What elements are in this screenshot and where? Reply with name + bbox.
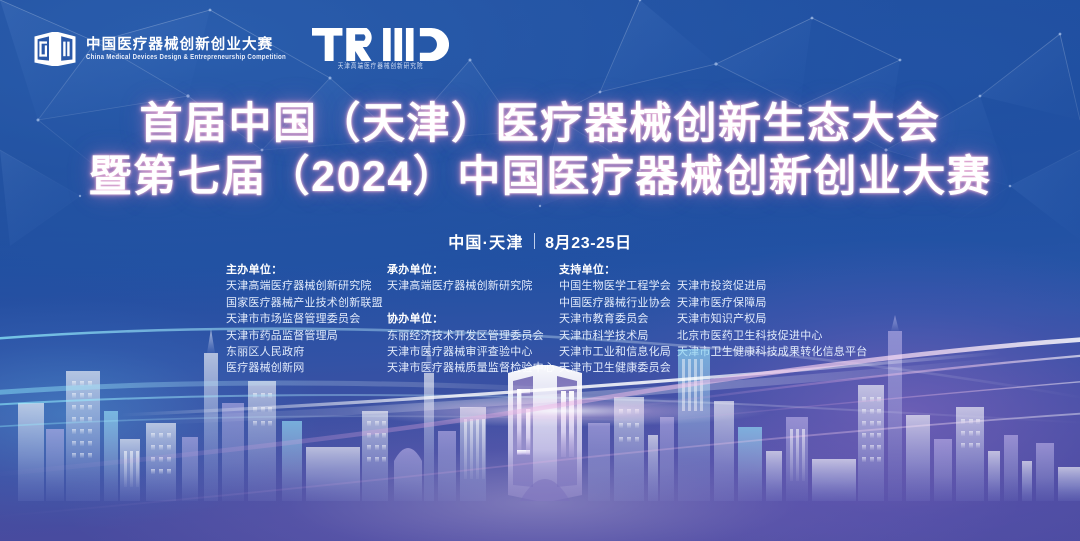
- organizer-columns: 主办单位： 天津高端医疗器械创新研究院 国家医疗器械产业技术创新联盟 天津市市场…: [226, 262, 867, 377]
- event-city: 中国·天津: [448, 229, 523, 253]
- competition-logo: 中国医疗器械创新创业大赛 China Medical Devices Desig…: [33, 29, 286, 69]
- organizer-column-undertakers: 承办单位： 天津高端医疗器械创新研究院 协办单位： 东丽经济技术开发区管理委员会…: [387, 262, 559, 377]
- organizer-column-supporters-a: 支持单位： 中国生物医学工程学会 中国医疗器械行业协会 天津市教育委员会 天津市…: [559, 262, 677, 377]
- organizer-column-supporters-b: 天津市投资促进局 天津市医疗保障局 天津市知识产权局 北京市医药卫生科技促进中心…: [677, 262, 867, 360]
- institute-name-cn: 天津高端医疗器械创新研究院: [338, 64, 424, 71]
- organizer-heading: 主办单位：: [226, 262, 387, 278]
- supporter-item: 天津市卫生健康委员会: [559, 360, 677, 376]
- supporter-item: 天津市医疗保障局: [677, 295, 867, 311]
- triid-wordmark: [312, 28, 449, 61]
- organizer-item: 东丽区人民政府: [226, 344, 387, 360]
- organizer-item: 医疗器械创新网: [226, 360, 387, 376]
- coorganizer-item: 天津市医疗器械审评查验中心: [387, 344, 559, 360]
- header-logos: 中国医疗器械创新创业大赛 China Medical Devices Desig…: [33, 28, 449, 71]
- organizer-item: 天津高端医疗器械创新研究院: [226, 278, 387, 294]
- coorganizer-item: 东丽经济技术开发区管理委员会: [387, 328, 559, 344]
- title-line-1: 首届中国（天津）医疗器械创新生态大会: [0, 98, 1080, 151]
- event-date: 8月23-25日: [545, 229, 632, 253]
- supporter-item: 中国医疗器械行业协会: [559, 295, 677, 311]
- organizer-column-hosts: 主办单位： 天津高端医疗器械创新研究院 国家医疗器械产业技术创新联盟 天津市市场…: [226, 262, 387, 377]
- column-spacer: [677, 262, 867, 278]
- open-book-door-logo-mark: [33, 29, 77, 69]
- conference-poster: 中国医疗器械创新创业大赛 China Medical Devices Desig…: [0, 0, 1080, 541]
- coorganizer-item: 天津市医疗器械质量监督检验中心: [387, 360, 559, 376]
- organizer-item: 天津市药品监督管理局: [226, 328, 387, 344]
- supporter-item: 天津市卫生健康科技成果转化信息平台: [677, 344, 867, 360]
- column-spacer: [387, 295, 559, 311]
- coorganizer-heading: 协办单位：: [387, 311, 559, 327]
- supporter-item: 中国生物医学工程学会: [559, 278, 677, 294]
- competition-name-cn: 中国医疗器械创新创业大赛: [86, 38, 286, 53]
- event-meta: 中国·天津 8月23-25日: [0, 229, 1080, 253]
- meta-divider: [534, 233, 536, 249]
- organizer-item: 天津市市场监督管理委员会: [226, 311, 387, 327]
- supporter-item: 天津市工业和信息化局: [559, 344, 677, 360]
- supporter-item: 天津市教育委员会: [559, 311, 677, 327]
- supporter-heading: 支持单位：: [559, 262, 677, 278]
- supporter-item: 天津市知识产权局: [677, 311, 867, 327]
- undertaker-item: 天津高端医疗器械创新研究院: [387, 278, 559, 294]
- supporter-item: 北京市医药卫生科技促进中心: [677, 328, 867, 344]
- supporter-item: 天津市投资促进局: [677, 278, 867, 294]
- undertaker-heading: 承办单位：: [387, 262, 559, 278]
- poster-title: 首届中国（天津）医疗器械创新生态大会 暨第七届（2024）中国医疗器械创新创业大…: [0, 98, 1080, 204]
- title-line-2: 暨第七届（2024）中国医疗器械创新创业大赛: [0, 151, 1080, 204]
- competition-name-en: China Medical Devices Design & Entrepren…: [86, 54, 286, 61]
- institute-logo: 天津高端医疗器械创新研究院: [312, 28, 449, 71]
- organizer-item: 国家医疗器械产业技术创新联盟: [226, 295, 387, 311]
- supporter-item: 天津市科学技术局: [559, 328, 677, 344]
